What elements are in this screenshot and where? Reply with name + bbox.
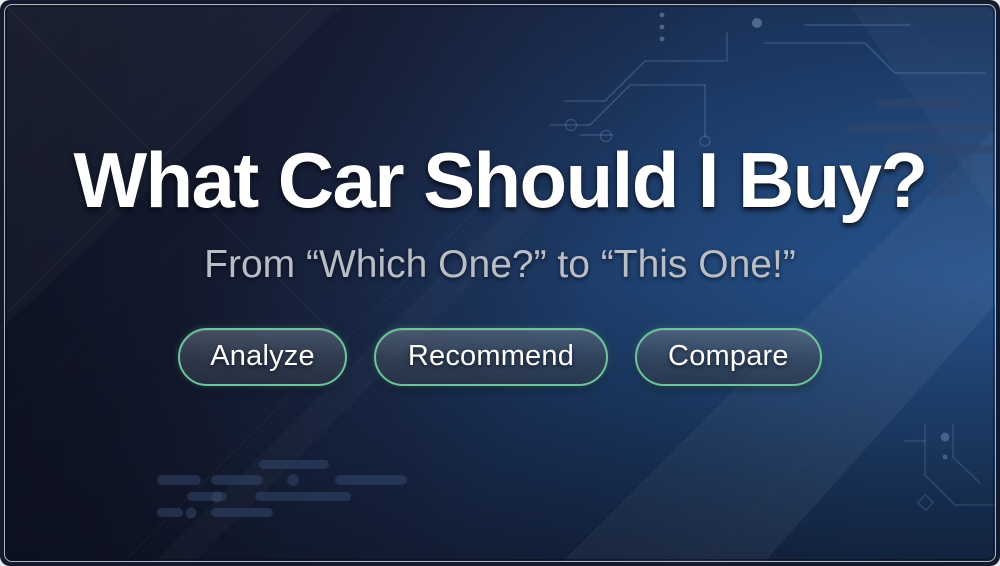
compare-button[interactable]: Compare bbox=[635, 328, 822, 386]
page-subtitle: From “Which One?” to “This One!” bbox=[204, 243, 796, 287]
recommend-button[interactable]: Recommend bbox=[374, 328, 608, 386]
analyze-button[interactable]: Analyze bbox=[178, 328, 347, 386]
action-button-group: Analyze Recommend Compare bbox=[178, 328, 821, 386]
hero-card: What Car Should I Buy? From “Which One?”… bbox=[0, 0, 1000, 566]
page-title: What Car Should I Buy? bbox=[73, 141, 926, 221]
hero-content: What Car Should I Buy? From “Which One?”… bbox=[0, 0, 1000, 566]
